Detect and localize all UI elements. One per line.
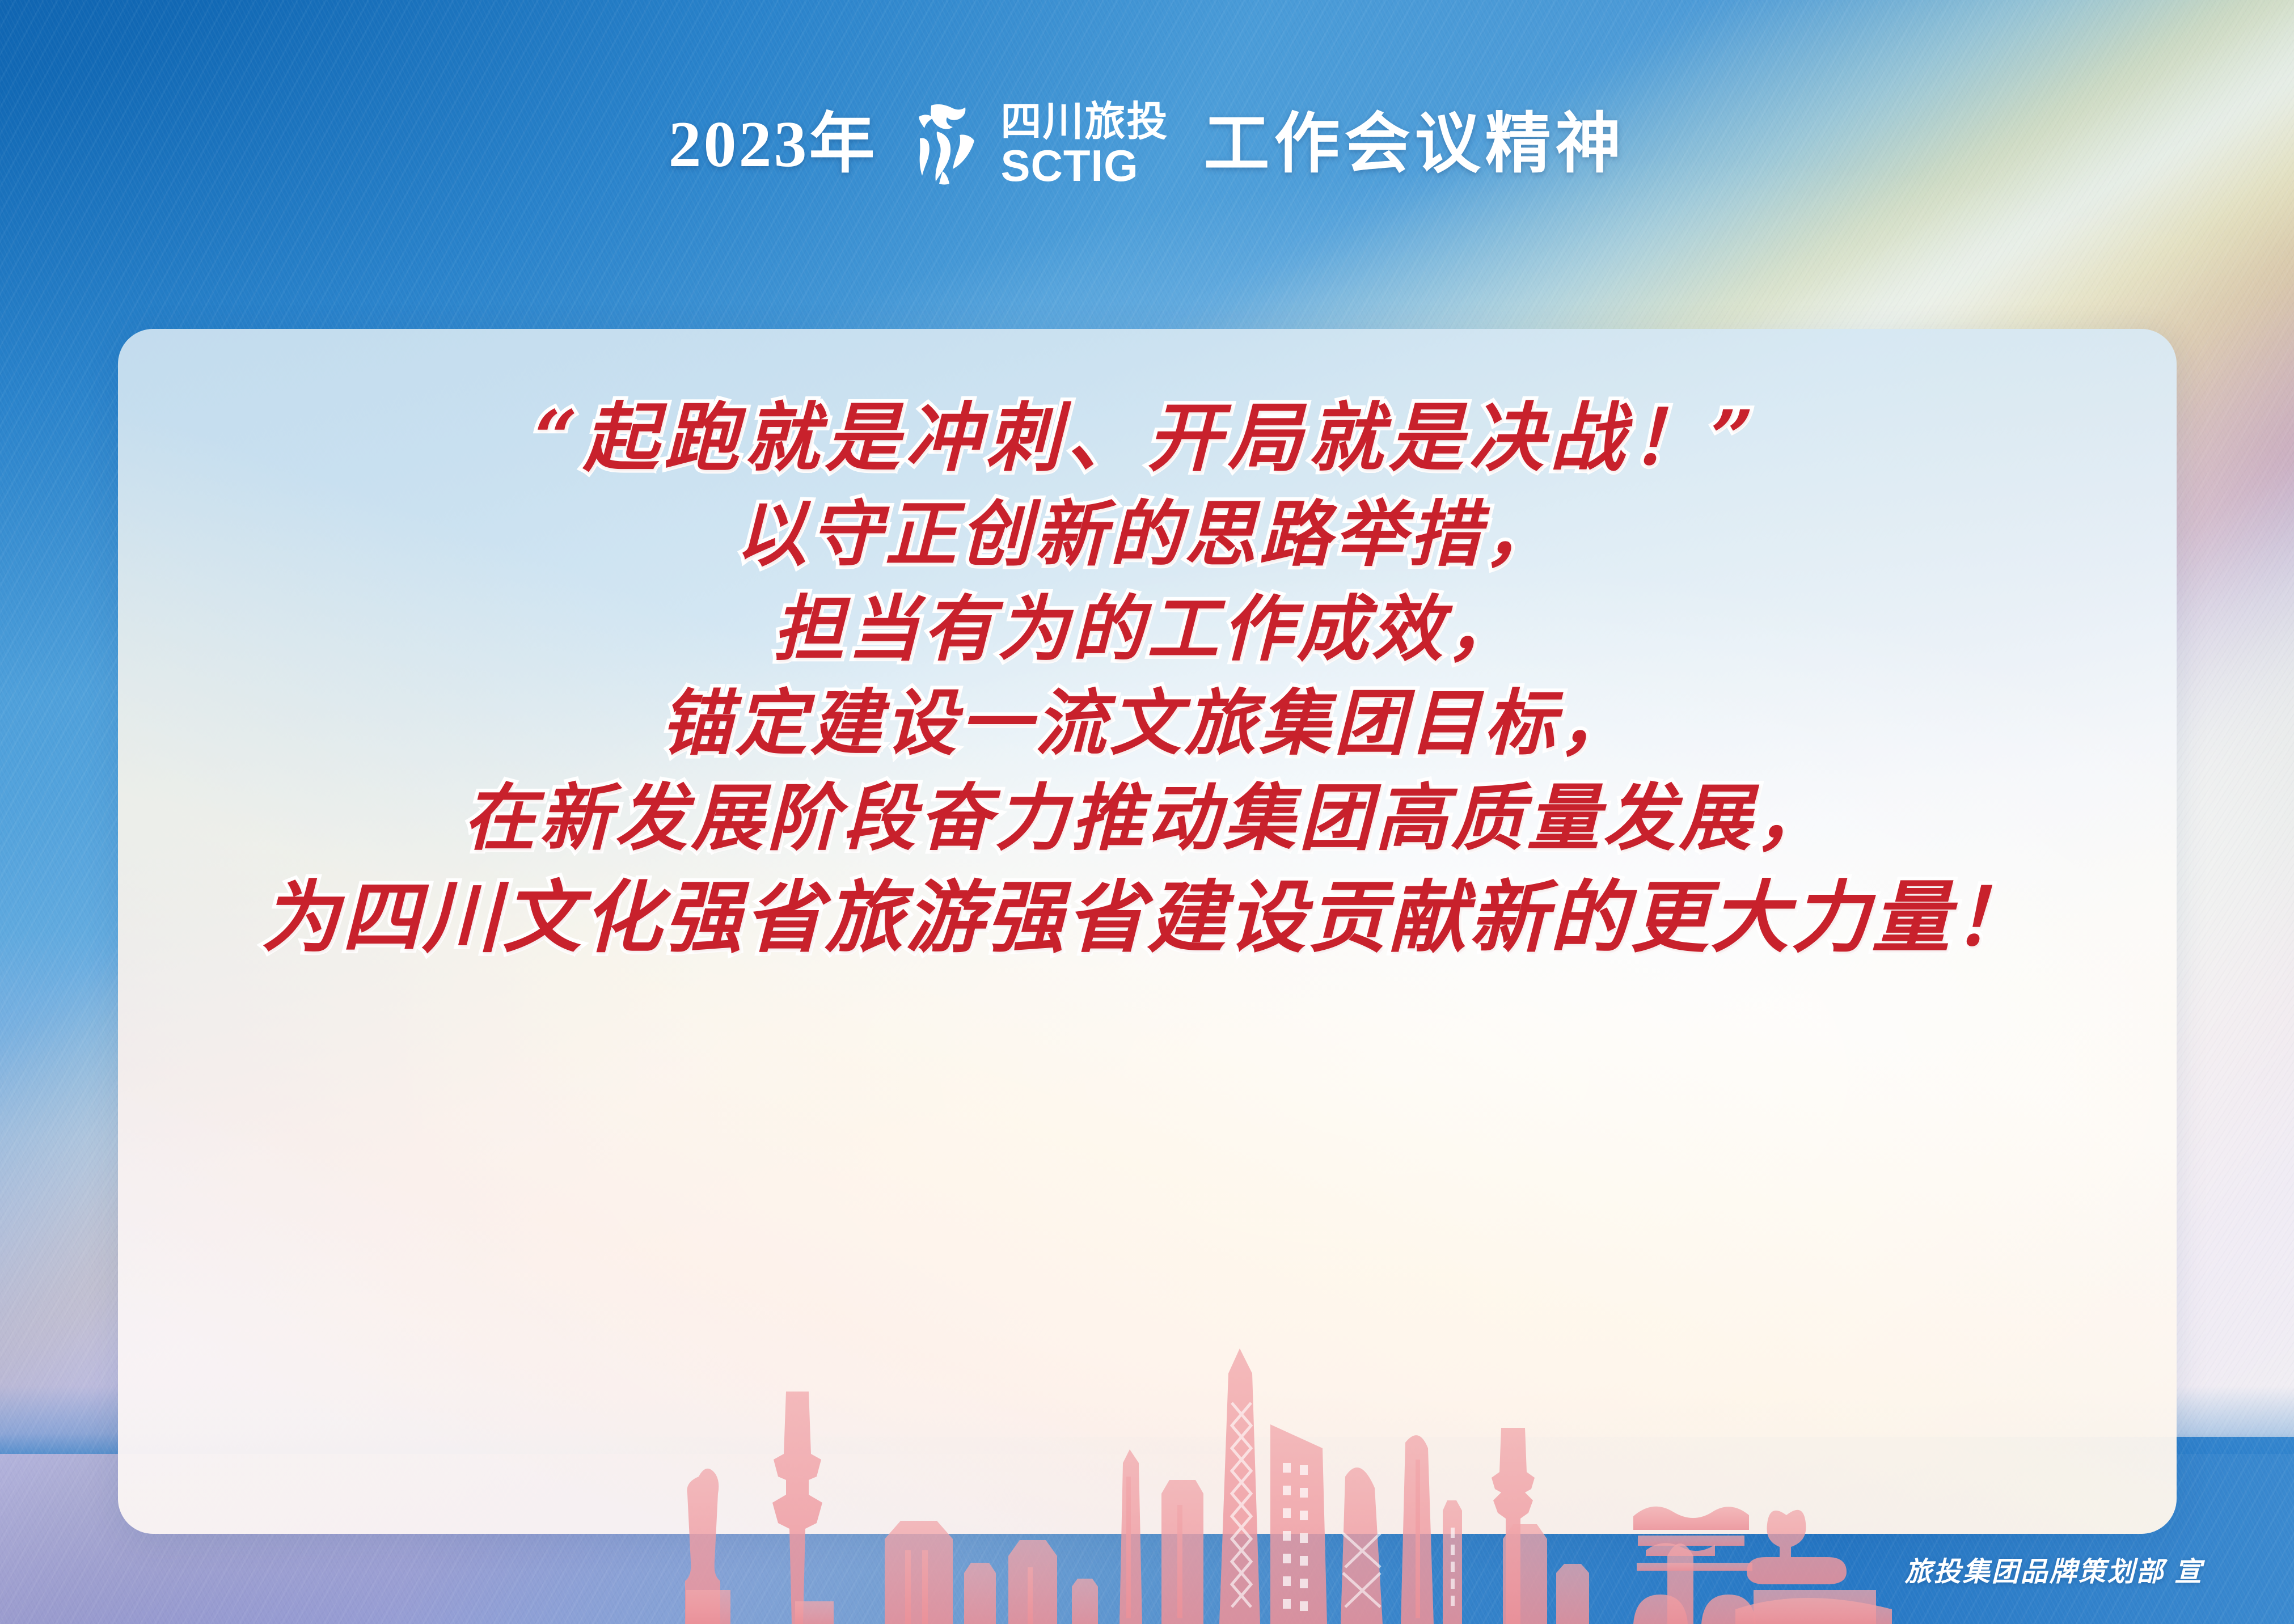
content-card: [118, 329, 2177, 1534]
sctig-logo-en: SCTIG: [1000, 144, 1138, 187]
sctig-globe-logo-icon: [912, 102, 986, 187]
card-center-glow: [118, 329, 2177, 1534]
header-suffix-label: 工作会议精神: [1204, 112, 1626, 177]
sctig-logo-cn: 四川旅投: [1000, 102, 1168, 142]
footer-credit: 旅投集团品牌策划部 宣: [1905, 1549, 2203, 1589]
header-year-label: 2023年: [668, 112, 877, 177]
poster-header: 2023年 四川旅投 SCTIG 工作会议精: [0, 79, 2294, 210]
sctig-logo: 四川旅投 SCTIG: [912, 102, 1168, 188]
card-warm-overlay: [118, 329, 2177, 1534]
sctig-logo-text: 四川旅投 SCTIG: [1000, 102, 1168, 188]
poster-root: 2023年 四川旅投 SCTIG 工作会议精: [0, 0, 2294, 1624]
